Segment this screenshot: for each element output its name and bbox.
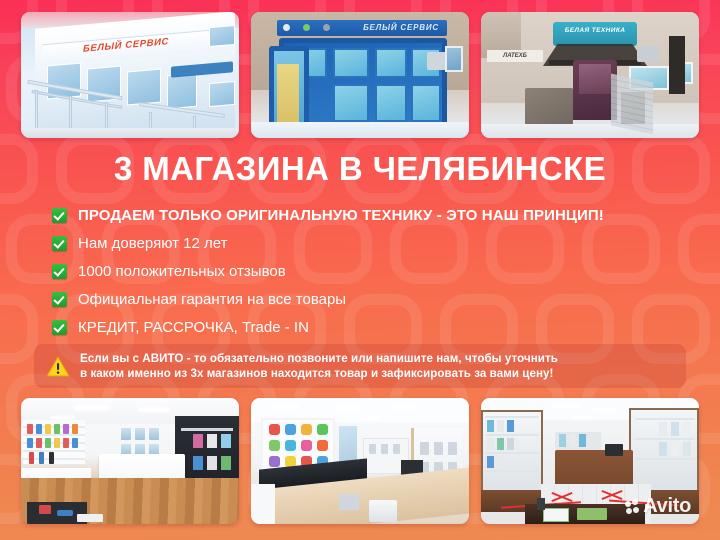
- check-icon: [52, 320, 67, 335]
- benefits-checklist: ПРОДАЕМ ТОЛЬКО ОРИГИНАЛЬНУЮ ТЕХНИКУ - ЭТ…: [52, 202, 692, 342]
- checklist-item-label: КРЕДИТ, РАССРОЧКА, Trade - IN: [78, 319, 309, 336]
- photo-row-bottom: Avito: [0, 398, 720, 524]
- photo-interior-dark-counters: Avito: [481, 398, 699, 524]
- photo-storefront-blue-facade: БЕЛЫЙ СЕРВИС: [251, 12, 469, 138]
- photo-sign-text-secondary: ЛАТЕХБ: [487, 50, 543, 62]
- warning-line-1: Если вы с АВИТО - то обязательно позвони…: [80, 351, 558, 366]
- checklist-item-label: Официальная гарантия на все товары: [78, 291, 346, 308]
- check-icon: [52, 208, 67, 223]
- check-icon: [52, 236, 67, 251]
- photo-interior-white-counter: [21, 398, 239, 524]
- checklist-item-label: ПРОДАЕМ ТОЛЬКО ОРИГИНАЛЬНУЮ ТЕХНИКУ - ЭТ…: [78, 207, 604, 224]
- checklist-item-label: 1000 положительных отзывов: [78, 263, 286, 280]
- photo-storefront-white-blue: БЕЛЫЙ СЕРВИС: [21, 12, 239, 138]
- page-title: 3 МАГАЗИНА В ЧЕЛЯБИНСКЕ: [0, 150, 720, 188]
- warning-text: Если вы с АВИТО - то обязательно позвони…: [80, 351, 558, 381]
- photo-interior-icon-wall: [251, 398, 469, 524]
- checklist-item-label: Нам доверяют 12 лет: [78, 235, 227, 252]
- checklist-item: Официальная гарантия на все товары: [52, 286, 692, 312]
- photo-sign-text: БЕЛАЯ ТЕХНИКА: [553, 22, 637, 46]
- warning-line-2: в каком именно из 3х магазинов находится…: [80, 366, 558, 381]
- checklist-item: КРЕДИТ, РАССРОЧКА, Trade - IN: [52, 314, 692, 340]
- checklist-item: 1000 положительных отзывов: [52, 258, 692, 284]
- promo-canvas: БЕЛЫЙ СЕРВИС БЕЛЫЙ СЕРВИС: [0, 0, 720, 540]
- warning-banner: Если вы с АВИТО - то обязательно позвони…: [34, 344, 686, 388]
- photo-storefront-awning: ЛАТЕХБ БЕЛАЯ ТЕХНИКА: [481, 12, 699, 138]
- warning-triangle-icon: [46, 356, 70, 377]
- check-icon: [52, 264, 67, 279]
- photo-row-top: БЕЛЫЙ СЕРВИС БЕЛЫЙ СЕРВИС: [0, 12, 720, 138]
- check-icon: [52, 292, 67, 307]
- checklist-item: ПРОДАЕМ ТОЛЬКО ОРИГИНАЛЬНУЮ ТЕХНИКУ - ЭТ…: [52, 202, 692, 228]
- checklist-item: Нам доверяют 12 лет: [52, 230, 692, 256]
